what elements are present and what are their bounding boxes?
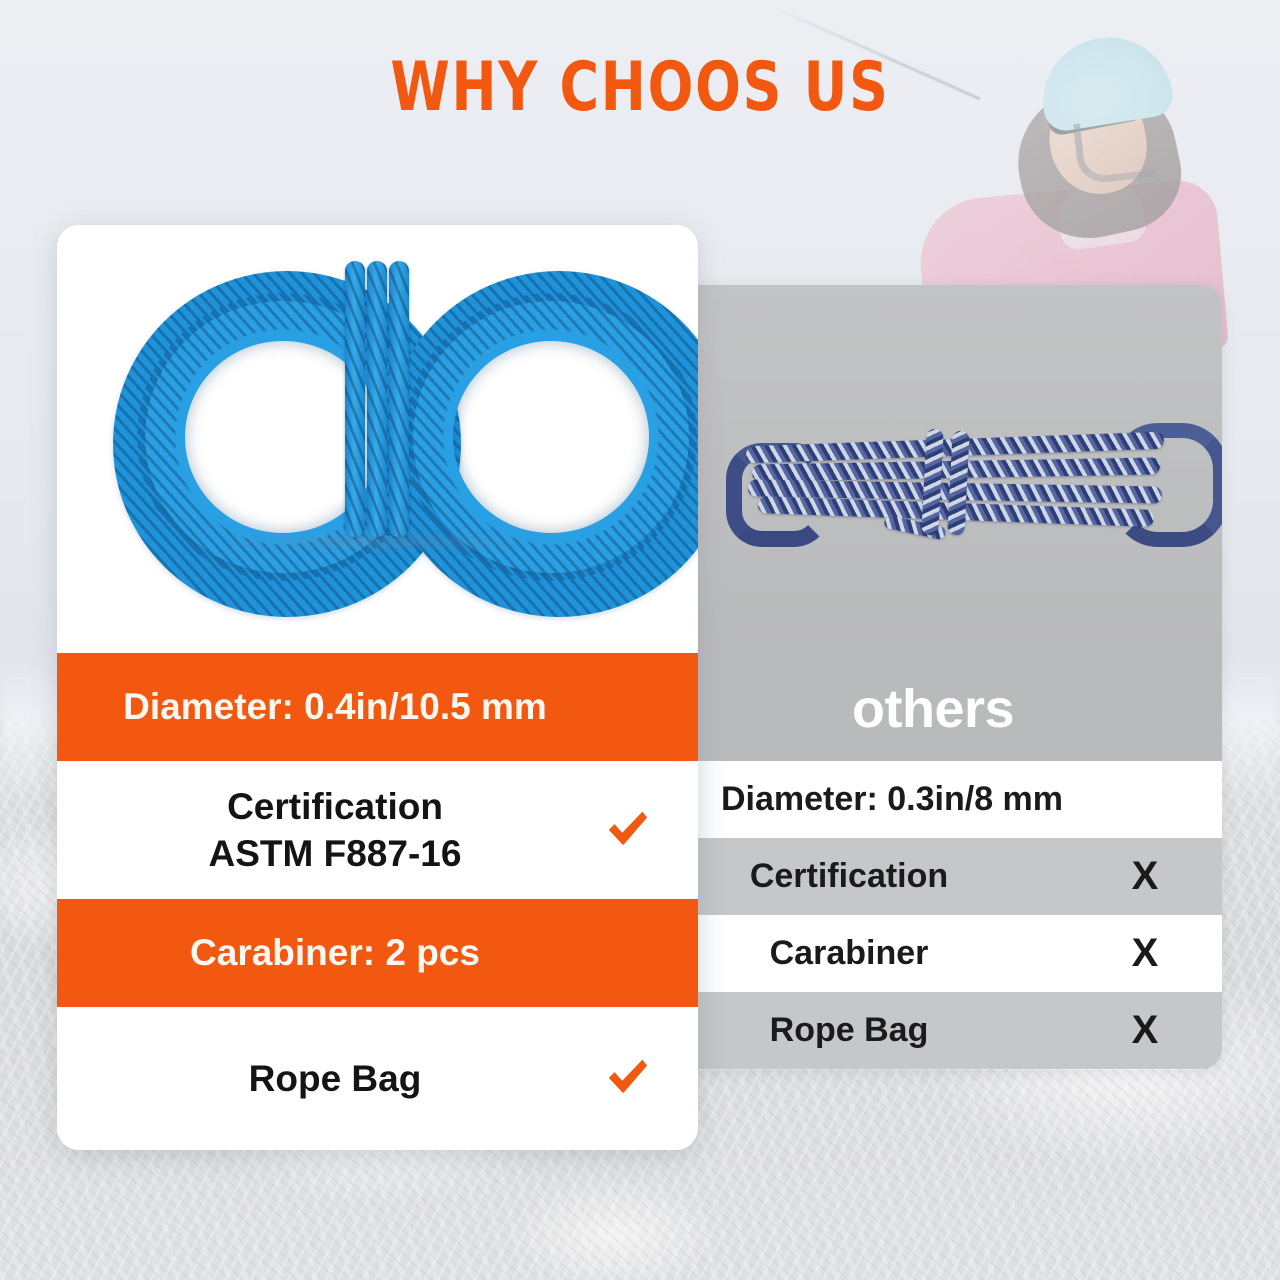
rope-center-wrap xyxy=(345,261,365,537)
cross-icon: X xyxy=(1102,931,1188,976)
ours-row-rope-bag: Rope Bag xyxy=(57,1007,698,1150)
ours-spec-list: Diameter: 0.4in/10.5 mm Certification AS… xyxy=(57,653,698,1150)
ours-row-label: Certification ASTM F887-16 xyxy=(57,783,613,878)
ours-product-image xyxy=(57,225,698,653)
ours-row-carabiner: Carabiner: 2 pcs xyxy=(57,899,698,1007)
ours-row-label: Diameter: 0.4in/10.5 mm xyxy=(57,683,613,730)
rope-center-wrap xyxy=(367,261,387,537)
cross-icon: X xyxy=(1102,854,1188,899)
infographic-canvas: WHY CHOOS US others Diameter: 0.3in/8 mm xyxy=(0,0,1280,1280)
blue-rope-coil-illustration xyxy=(109,257,649,547)
helmet-strap xyxy=(1073,116,1156,185)
ours-row-label: Rope Bag xyxy=(57,1055,613,1102)
product-drop-shadow xyxy=(199,533,561,551)
rope-center-wrap xyxy=(389,261,409,537)
page-title: WHY CHOOS US xyxy=(77,54,1203,122)
rope-lobe-right-inner xyxy=(413,301,689,573)
ours-row-label: Carabiner: 2 pcs xyxy=(57,929,613,976)
cross-icon: X xyxy=(1102,1008,1188,1053)
ours-product-card: Diameter: 0.4in/10.5 mm Certification AS… xyxy=(57,225,698,1150)
others-label-text: others xyxy=(852,678,1014,740)
twisted-rope-illustration xyxy=(728,403,1188,553)
ours-row-diameter: Diameter: 0.4in/10.5 mm xyxy=(57,653,698,761)
check-icon xyxy=(581,805,673,856)
check-icon xyxy=(581,1053,673,1104)
ours-row-certification: Certification ASTM F887-16 xyxy=(57,761,698,899)
